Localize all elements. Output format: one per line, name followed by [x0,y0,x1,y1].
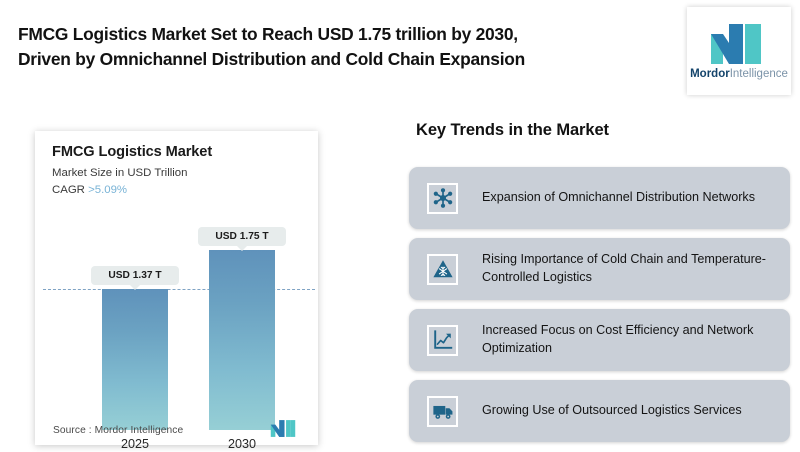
chart-source-label: Source : Mordor Intelligence [53,425,183,436]
chart-cagr: CAGR >5.09% [52,184,127,196]
chart-bar-value-label: USD 1.75 T [198,227,286,246]
trend-card-4[interactable]: Growing Use of Outsourced Logistics Serv… [409,380,790,442]
chart-x-tick-label: 2025 [95,437,175,451]
mordor-logo-mark-small [270,419,296,438]
trend-label-2: Rising Importance of Cold Chain and Temp… [482,251,778,287]
trend-label-1: Expansion of Omnichannel Distribution Ne… [482,189,755,207]
truck-icon [427,396,458,427]
chart-title: FMCG Logistics Market [52,144,212,160]
page-title-line-2: Driven by Omnichannel Distribution and C… [18,47,668,72]
chart-cagr-label: CAGR [52,184,85,196]
chart-card: FMCG Logistics Market Market Size in USD… [35,131,318,445]
chart-bar [209,250,275,430]
chart-cagr-value: >5.09% [88,184,127,196]
trend-label-4: Growing Use of Outsourced Logistics Serv… [482,402,742,420]
chart-subtitle: Market Size in USD Trillion [52,167,187,179]
trend-card-2[interactable]: Rising Importance of Cold Chain and Temp… [409,238,790,300]
mordor-logo-mark [709,22,769,66]
brand-name-primary: Mordor [690,68,730,80]
brand-name-secondary: Intelligence [730,68,788,80]
chart-bar-value-label: USD 1.37 T [91,266,179,285]
brand-logo: MordorIntelligence [687,7,791,95]
chart-bar [102,289,168,430]
trends-heading: Key Trends in the Market [416,121,609,140]
trend-card-3[interactable]: Increased Focus on Cost Efficiency and N… [409,309,790,371]
trend-label-3: Increased Focus on Cost Efficiency and N… [482,322,778,358]
chart-x-tick-label: 2030 [202,437,282,451]
page-title-line-1: FMCG Logistics Market Set to Reach USD 1… [18,22,668,47]
brand-wordmark: MordorIntelligence [690,69,788,81]
line-chart-up-icon [427,325,458,356]
trend-card-1[interactable]: Expansion of Omnichannel Distribution Ne… [409,167,790,229]
snowflake-icon [427,254,458,285]
page-title: FMCG Logistics Market Set to Reach USD 1… [18,22,668,71]
network-hub-icon [427,183,458,214]
chart-plot-area: USD 1.37 T2025USD 1.75 T2030 [35,209,318,445]
